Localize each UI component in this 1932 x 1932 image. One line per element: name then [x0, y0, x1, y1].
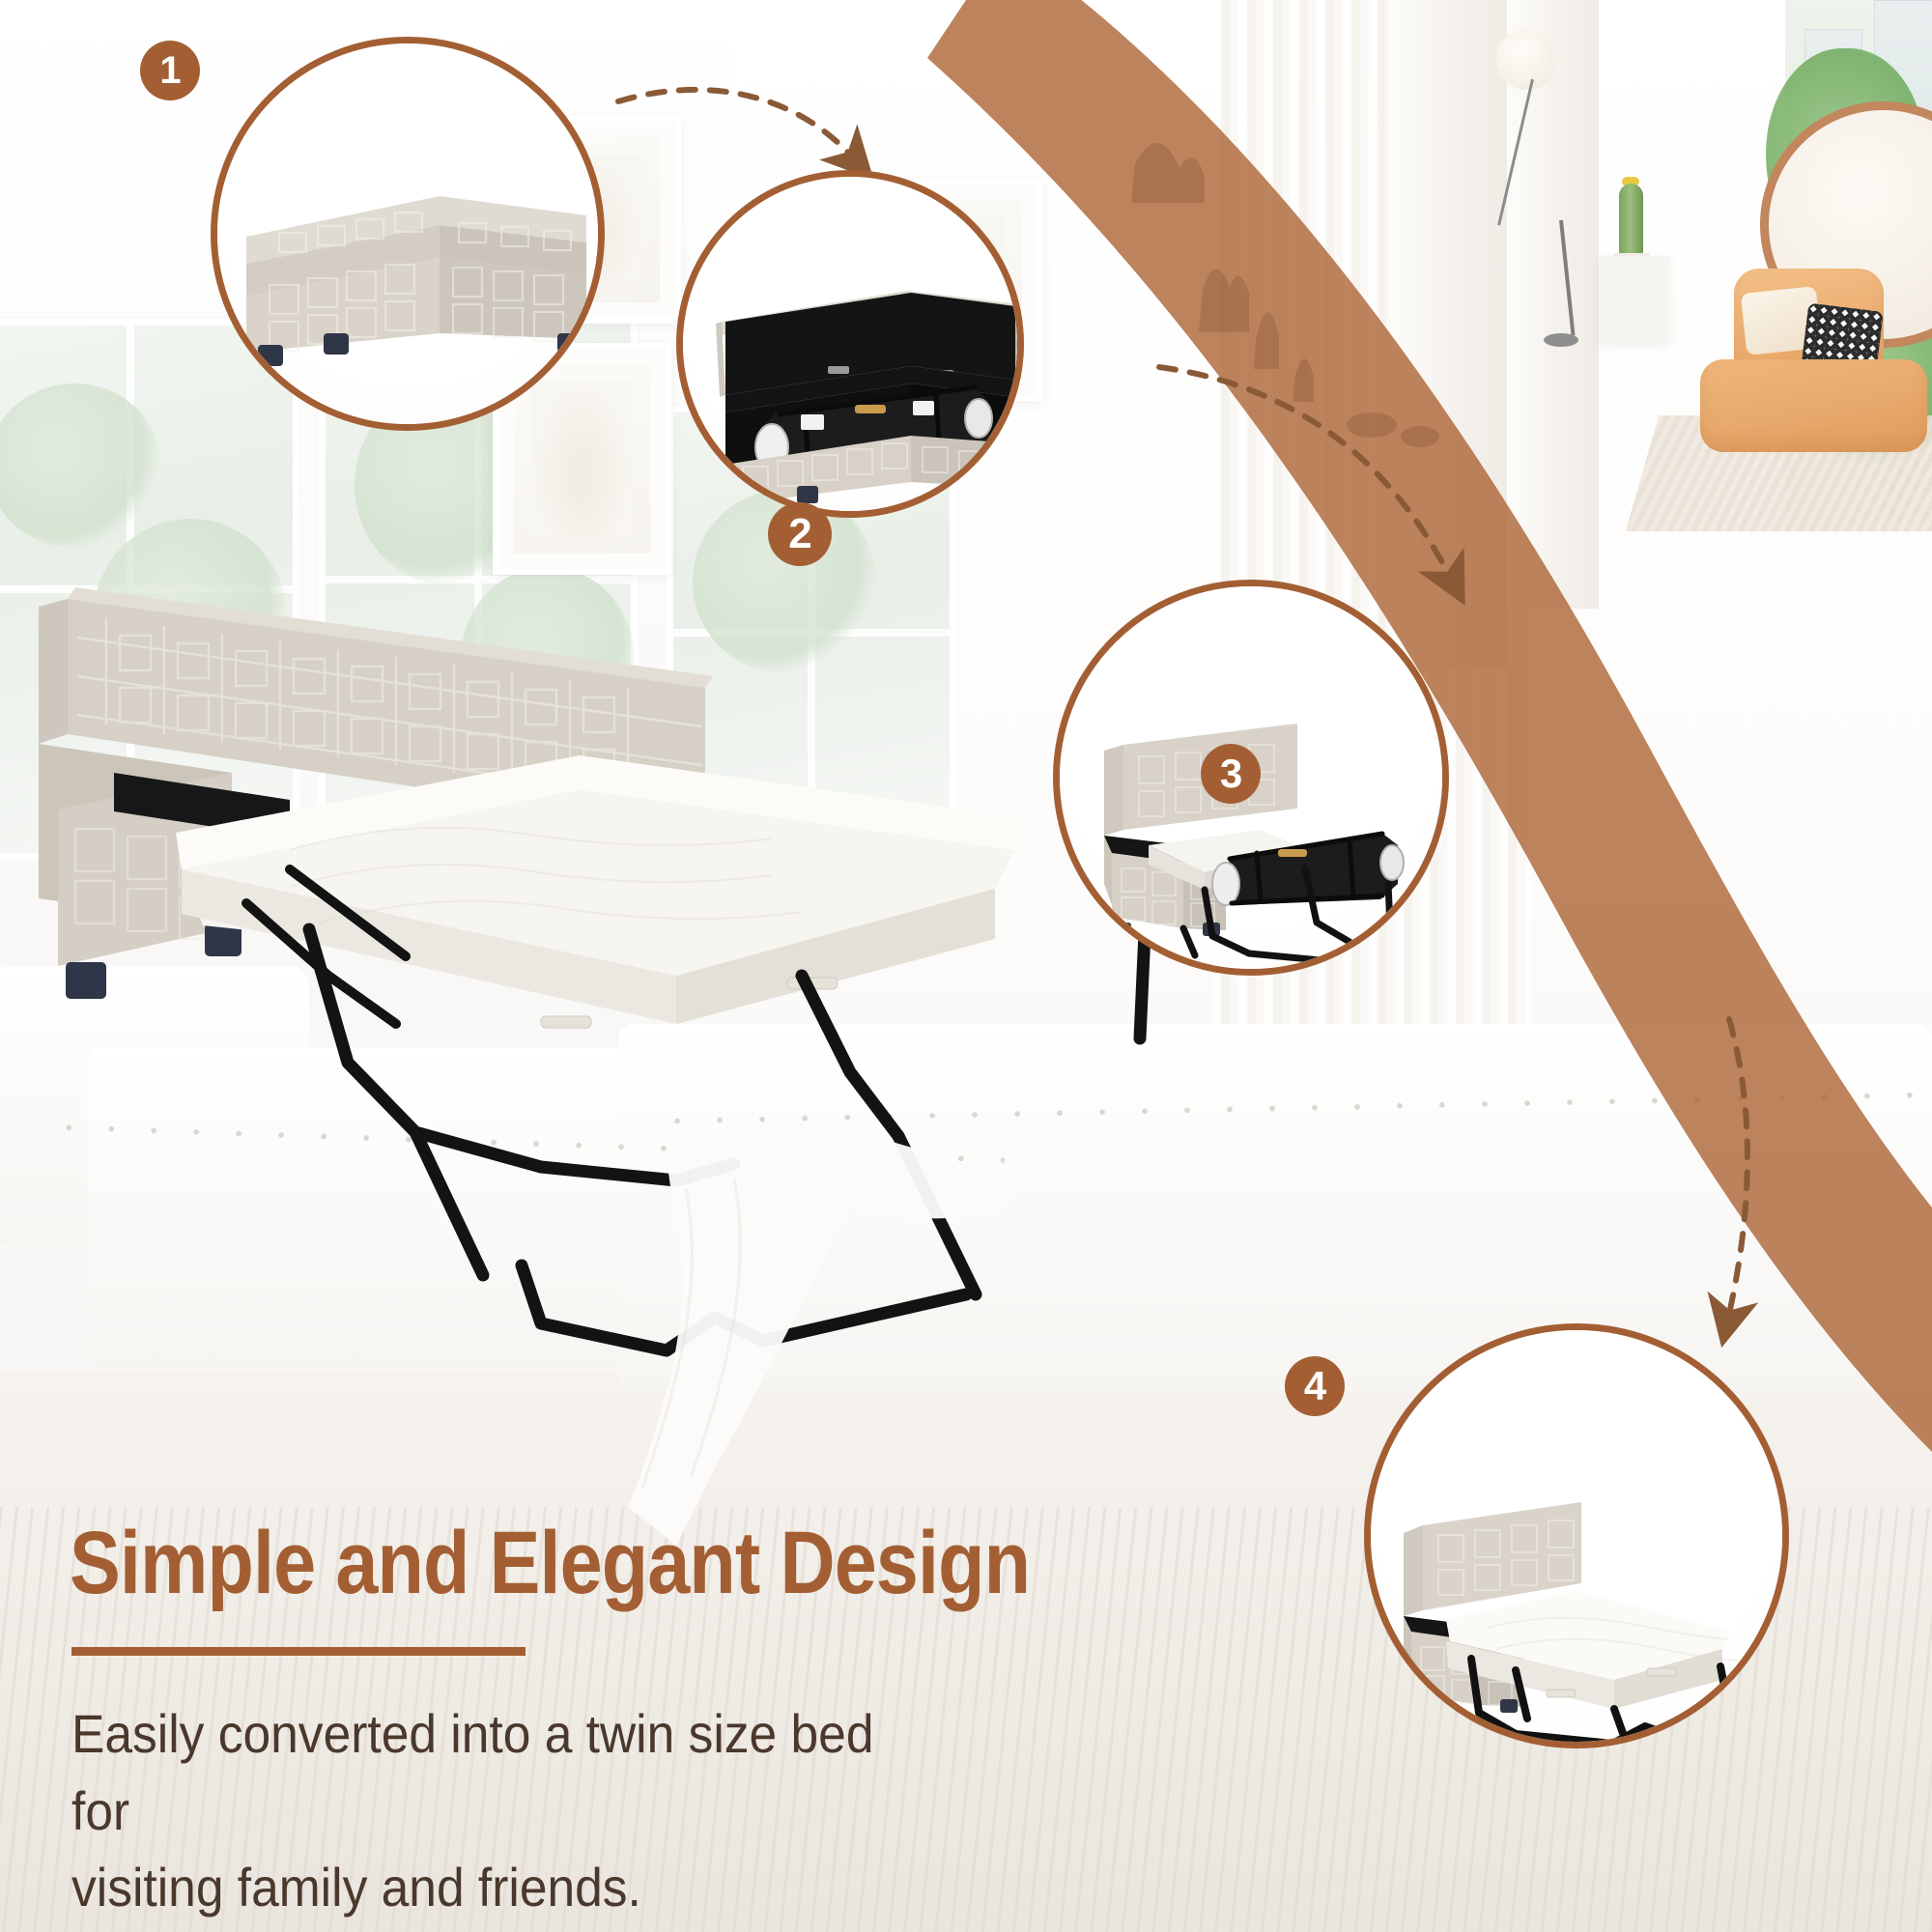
- step-4-badge: 4: [1285, 1356, 1345, 1416]
- floor-lamp-shade: [1496, 29, 1557, 90]
- infographic-canvas: 1: [0, 0, 1932, 1932]
- subtitle-line-2: visiting family and friends.: [71, 1849, 924, 1926]
- subtitle-line-1: Easily converted into a twin size bed fo…: [71, 1695, 924, 1849]
- wall-pillar-2: [1507, 0, 1599, 609]
- subtitle: Easily converted into a twin size bed fo…: [71, 1695, 924, 1926]
- step-2-circle[interactable]: [676, 170, 1024, 518]
- wall-pillar-1: [1391, 0, 1507, 667]
- step-4-circle[interactable]: [1364, 1323, 1789, 1748]
- floor-lamp-base: [1544, 333, 1578, 347]
- step-1-circle[interactable]: [211, 37, 605, 431]
- step-2-illustration: [683, 177, 1017, 511]
- floor-cushion-seat: [1700, 359, 1927, 452]
- cactus-plant: [1619, 184, 1643, 263]
- step-2-badge: 2: [768, 502, 832, 566]
- step-3-badge: 3: [1201, 744, 1261, 804]
- title-divider: [71, 1647, 526, 1656]
- step-4-illustration: [1371, 1330, 1782, 1742]
- page-title: Simple and Elegant Design: [70, 1519, 1030, 1607]
- step-1-illustration: [217, 43, 598, 424]
- terrazzo-plinth: [1599, 256, 1670, 343]
- step-1-badge: 1: [140, 41, 200, 100]
